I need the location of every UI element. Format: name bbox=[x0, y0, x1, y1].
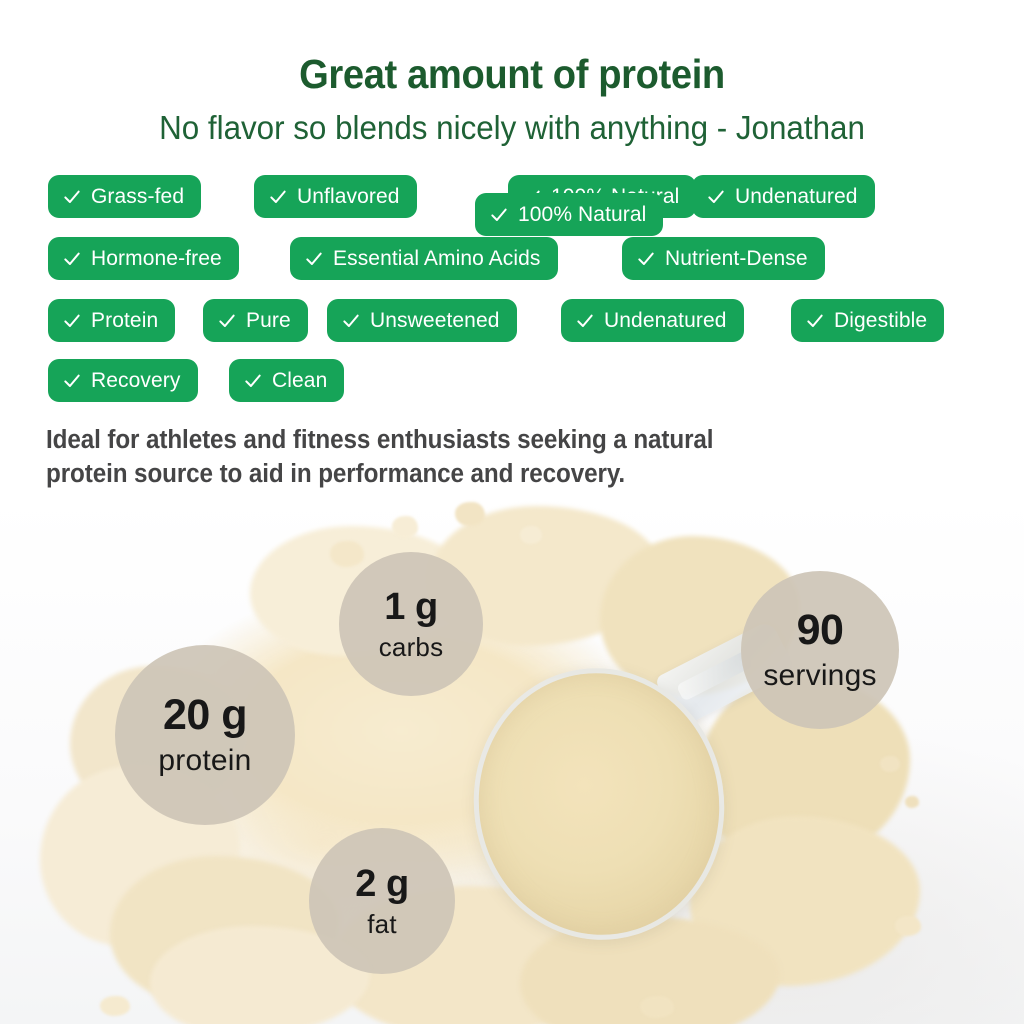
feature-tag-label: Undenatured bbox=[604, 310, 727, 331]
nutrition-fact-servings: 90servings bbox=[741, 571, 899, 729]
feature-tag-label: Unsweetened bbox=[370, 310, 500, 331]
check-icon bbox=[304, 249, 324, 269]
feature-tag-label: Clean bbox=[272, 370, 327, 391]
powder-crumb bbox=[640, 996, 674, 1018]
feature-tag-label: Essential Amino Acids bbox=[333, 248, 541, 269]
check-icon bbox=[575, 311, 595, 331]
feature-tag: Undenatured bbox=[561, 299, 744, 342]
nutrition-fact-label: fat bbox=[367, 911, 397, 937]
feature-tag-label: Protein bbox=[91, 310, 158, 331]
feature-tag: 100% Natural bbox=[475, 193, 663, 236]
check-icon bbox=[805, 311, 825, 331]
feature-tag-label: Undenatured bbox=[735, 186, 858, 207]
nutrition-fact-protein: 20 gprotein bbox=[115, 645, 295, 825]
nutrition-fact-label: carbs bbox=[379, 634, 444, 660]
nutrition-fact-value: 20 g bbox=[163, 694, 247, 737]
feature-tag: Protein bbox=[48, 299, 175, 342]
feature-tag-label: Unflavored bbox=[297, 186, 400, 207]
check-icon bbox=[636, 249, 656, 269]
nutrition-fact-value: 90 bbox=[797, 609, 844, 652]
feature-tag-label: Grass-fed bbox=[91, 186, 184, 207]
powder-crumb bbox=[895, 916, 921, 936]
feature-tag-label: Nutrient-Dense bbox=[665, 248, 808, 269]
feature-tag-label: Digestible bbox=[834, 310, 927, 331]
nutrition-fact-value: 1 g bbox=[384, 588, 437, 626]
feature-tag-list: Grass-fedUnflavored100% NaturalUndenatur… bbox=[0, 0, 1024, 410]
product-infographic-page: Great amount of protein No flavor so ble… bbox=[0, 0, 1024, 1024]
powder-crumb bbox=[455, 502, 485, 526]
feature-tag: Grass-fed bbox=[48, 175, 201, 218]
check-icon bbox=[706, 187, 726, 207]
feature-tag: Clean bbox=[229, 359, 344, 402]
check-icon bbox=[62, 249, 82, 269]
check-icon bbox=[62, 371, 82, 391]
powder-crumb bbox=[330, 541, 364, 567]
powder-crumb bbox=[100, 996, 130, 1016]
powder-crumb bbox=[880, 756, 900, 772]
check-icon bbox=[341, 311, 361, 331]
feature-tag-label: Hormone-free bbox=[91, 248, 222, 269]
feature-tag: Nutrient-Dense bbox=[622, 237, 825, 280]
feature-tag: Unsweetened bbox=[327, 299, 517, 342]
feature-tag: Digestible bbox=[791, 299, 944, 342]
feature-tag: Recovery bbox=[48, 359, 198, 402]
feature-tag-label: 100% Natural bbox=[518, 204, 646, 225]
nutrition-fact-label: protein bbox=[158, 746, 251, 776]
check-icon bbox=[62, 187, 82, 207]
check-icon bbox=[217, 311, 237, 331]
feature-tag: Essential Amino Acids bbox=[290, 237, 558, 280]
feature-tag: Hormone-free bbox=[48, 237, 239, 280]
check-icon bbox=[243, 371, 263, 391]
check-icon bbox=[62, 311, 82, 331]
check-icon bbox=[489, 205, 509, 225]
powder-crumb bbox=[905, 796, 919, 808]
powder-crumb bbox=[520, 526, 542, 544]
nutrition-fact-fat: 2 gfat bbox=[309, 828, 455, 974]
feature-tag: Pure bbox=[203, 299, 308, 342]
nutrition-fact-value: 2 g bbox=[355, 865, 408, 903]
nutrition-fact-carbs: 1 gcarbs bbox=[339, 552, 483, 696]
feature-tag-label: Recovery bbox=[91, 370, 181, 391]
feature-tag: Unflavored bbox=[254, 175, 417, 218]
nutrition-fact-label: servings bbox=[763, 661, 876, 691]
feature-tag: Undenatured bbox=[692, 175, 875, 218]
product-description: Ideal for athletes and fitness enthusias… bbox=[46, 424, 797, 492]
feature-tag-label: Pure bbox=[246, 310, 291, 331]
check-icon bbox=[268, 187, 288, 207]
powder-crumb bbox=[392, 516, 418, 538]
